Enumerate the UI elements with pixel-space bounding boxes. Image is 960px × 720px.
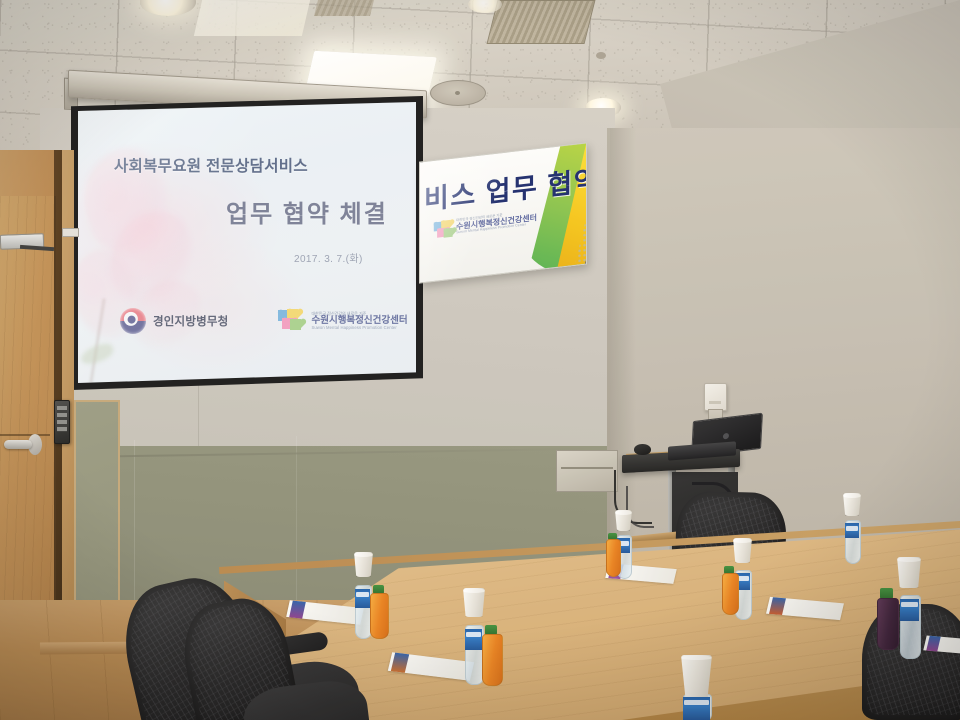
slide-content: 사회복무요원 전문상담서비스 업무 협약 체결 2017. 3. 7.(화) 경… [78, 102, 416, 383]
slide-title-line1: 사회복무요원 전문상담서비스 [114, 154, 308, 176]
name-card-strip [769, 597, 786, 615]
wall-cabinet [556, 450, 618, 492]
logo-gyeongin-label: 경인지방병무청 [153, 313, 228, 329]
paper-cup[interactable] [463, 588, 485, 617]
bottle-body [606, 539, 621, 577]
slide-date: 2017. 3. 7.(화) [294, 250, 363, 265]
hvac-vent-small-icon [314, 0, 374, 16]
logo-gyeongin: 경인지방병무청 [120, 308, 228, 334]
four-hearts-icon [278, 310, 304, 332]
logo-suwon-text: 대한민국 정신건강의 새로운 기준 수원시행복정신건강센터 Suwon Ment… [311, 312, 407, 331]
wall-sensor-icon [62, 228, 79, 237]
bottle-body [482, 634, 503, 686]
bottle-body [370, 593, 389, 639]
bottle-label [900, 599, 919, 621]
bottle-body [722, 573, 739, 615]
computer-mouse-icon[interactable] [634, 444, 651, 455]
bottle-label [683, 697, 710, 720]
paper-cup[interactable] [354, 552, 373, 577]
paper-cup[interactable] [681, 655, 712, 697]
paper-cup[interactable] [615, 510, 632, 531]
right-wall [608, 128, 960, 558]
ceiling-speaker-icon [430, 80, 486, 106]
logo-suwon-english: Suwon Mental Happiness Promotion Center [311, 326, 407, 330]
name-card-strip [391, 653, 409, 673]
bottle-label [845, 523, 859, 538]
slide-title-line2: 업무 협약 체결 [226, 194, 388, 229]
paper-cup[interactable] [733, 538, 752, 563]
bottle-body [877, 598, 899, 650]
door-panel-line [0, 434, 50, 436]
slide-logo-row: 경인지방병무청 대한민국 정신건강의 새로운 기준 수원시행복정신건강센터 Su… [120, 308, 400, 334]
wall-outlet-icon[interactable] [704, 383, 727, 411]
meeting-room-photo: 사회복무요원 전문상담서비스 업무 협약 체결 2017. 3. 7.(화) 경… [0, 0, 960, 720]
paper-cup[interactable] [843, 493, 861, 516]
name-card-strip [289, 601, 306, 619]
ceiling-panel-light-secondary [194, 0, 310, 36]
projection-screen: 사회복무요원 전문상담서비스 업무 협약 체결 2017. 3. 7.(화) 경… [78, 102, 416, 383]
light-switch-panel-icon[interactable] [54, 400, 70, 444]
taegeuk-icon [115, 303, 152, 340]
banner-sheen [420, 144, 586, 283]
smoke-detector-icon [596, 52, 606, 59]
logo-suwon: 대한민국 정신건강의 새로운 기준 수원시행복정신건강센터 Suwon Ment… [278, 310, 407, 332]
hvac-vent-icon [487, 0, 596, 44]
paper-cup[interactable] [897, 557, 921, 588]
bottle-label [355, 589, 370, 608]
door-handle-icon[interactable] [4, 440, 32, 449]
name-card-strip [926, 636, 940, 652]
wall-banner: 비스 업무 협약 대한민국 정신건강의 새로운 기준 수원시행복정신건강센터 S… [419, 142, 587, 283]
bottle-label [465, 629, 482, 650]
